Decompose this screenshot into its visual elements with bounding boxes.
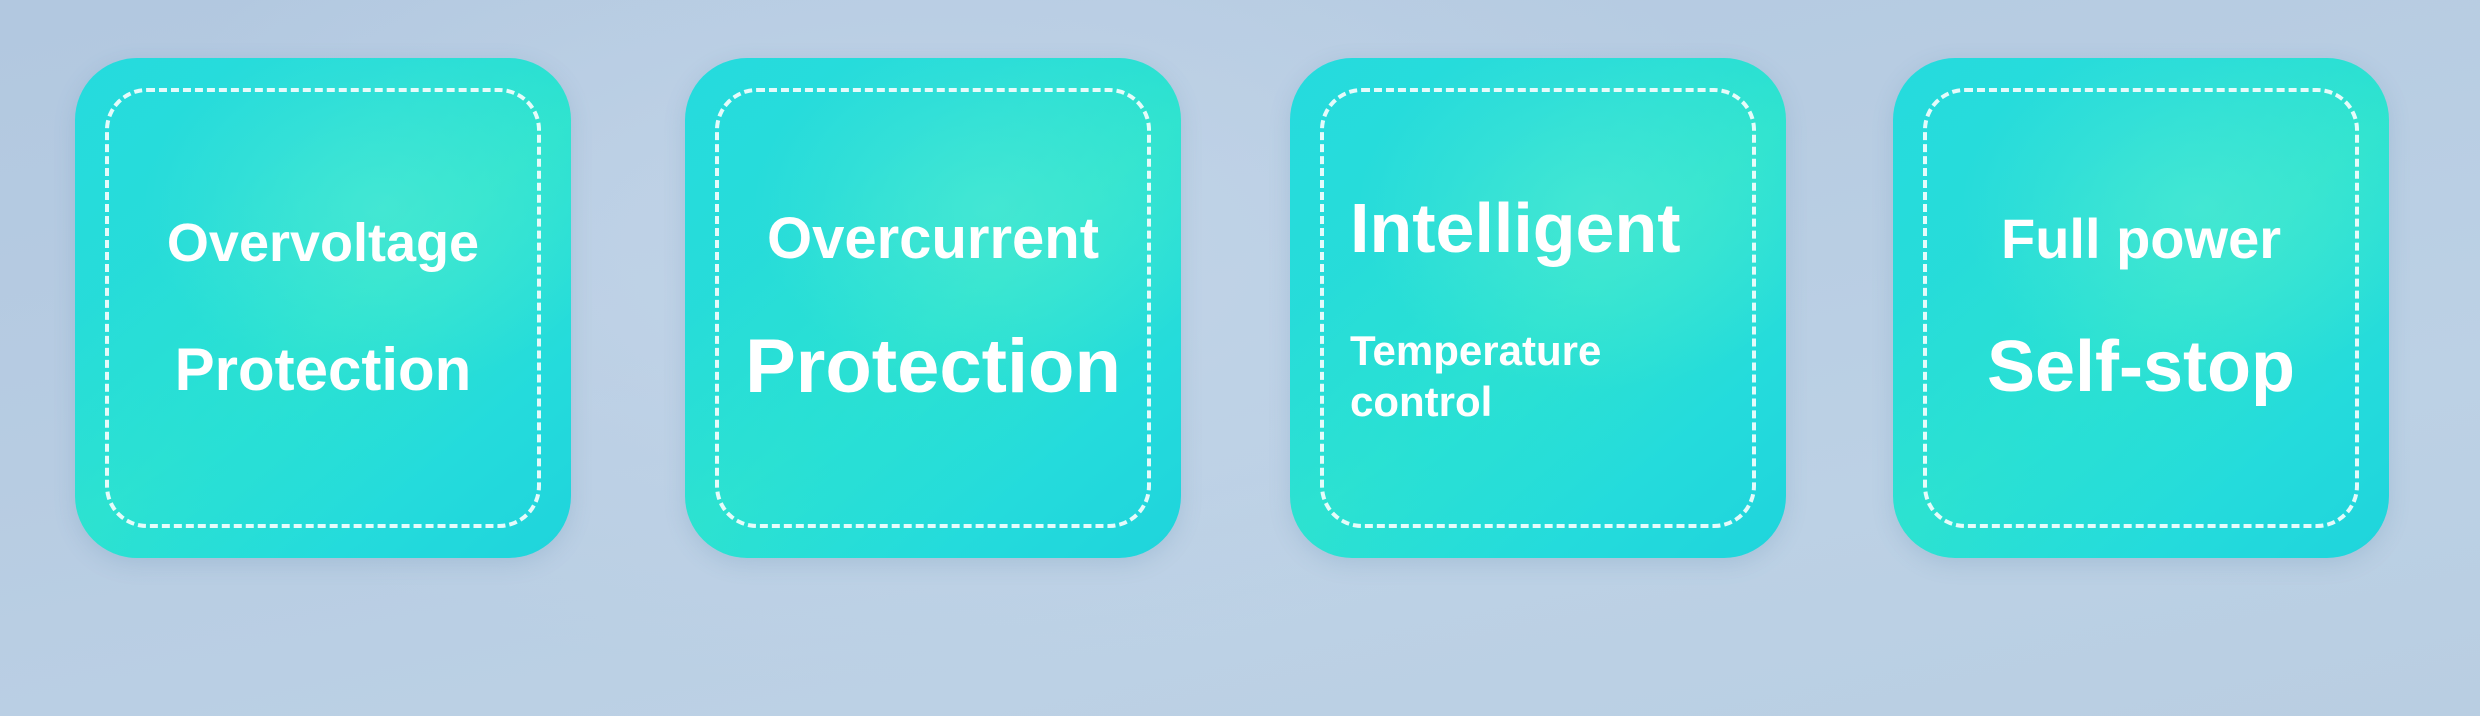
feature-title-primary: Intelligent — [1350, 189, 1756, 267]
feature-card-text: Intelligent Temperature control — [1320, 88, 1756, 528]
feature-title-secondary: Temperature control — [1350, 325, 1680, 427]
feature-card-overvoltage-protection[interactable]: Overvoltage Protection — [75, 58, 571, 558]
feature-card-text: Overvoltage Protection — [105, 88, 541, 528]
feature-title-secondary: Self-stop — [1923, 327, 2359, 408]
feature-title-secondary: Protection — [105, 336, 541, 403]
feature-card-board: Overvoltage Protection Overcurrent Prote… — [0, 0, 2480, 716]
feature-title-primary: Overcurrent — [715, 207, 1151, 272]
feature-title-primary: Full power — [1923, 208, 2359, 271]
feature-title-secondary: Protection — [715, 324, 1151, 409]
feature-card-text: Full power Self-stop — [1923, 88, 2359, 528]
feature-card-full-power-self-stop[interactable]: Full power Self-stop — [1893, 58, 2389, 558]
feature-card-text: Overcurrent Protection — [715, 88, 1151, 528]
feature-title-primary: Overvoltage — [105, 213, 541, 273]
feature-card-intelligent-temperature-control[interactable]: Intelligent Temperature control — [1290, 58, 1786, 558]
feature-card-overcurrent-protection[interactable]: Overcurrent Protection — [685, 58, 1181, 558]
